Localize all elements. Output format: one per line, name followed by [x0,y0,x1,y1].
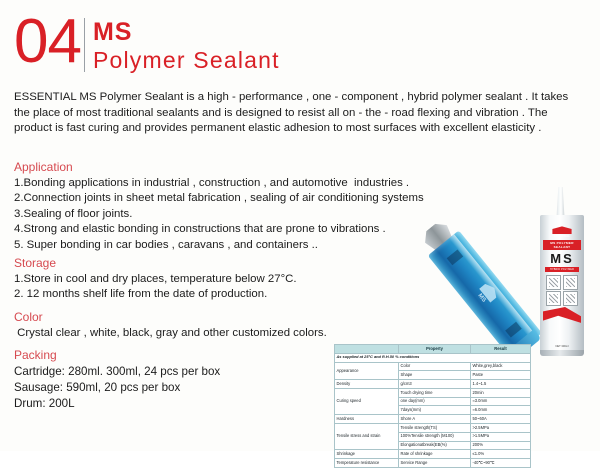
cartridge-body: ESSENTIAL MS POLYMER SEALANT MS HYBRID P… [540,215,584,353]
specifications-table: Property Result As supplied at 25°C and … [334,344,531,468]
table-row: Tensile stress and strainTensile strengt… [335,424,531,433]
spec-result: ≈6.0mm [471,406,531,415]
title-block: MS Polymer Sealant [93,14,280,74]
spec-result: ≈3.0mm [471,397,531,406]
list-item: 1.Store in cool and dry places, temperat… [14,272,444,287]
list-item: 2.Connection joints in sheet metal fabri… [14,191,514,206]
table-row: HardnessShore A50~60A [335,415,531,424]
spec-result: 20min [471,388,531,397]
spec-group-label: Appearance [335,362,399,380]
spec-result: 200% [471,441,531,450]
spec-property: Touch drying time [399,388,471,397]
spec-group-label: Temperature resistance [335,459,399,468]
spec-result: >2.5MPa [471,424,531,433]
list-item: 2. 12 months shelf life from the date of… [14,287,444,302]
house-logo-icon [547,226,577,234]
spec-property: Tensile strength(TS) [399,424,471,433]
spec-group-label: Hardness [335,415,399,424]
cartridge-band-label: MS POLYMER SEALANT [543,240,581,250]
spec-group-label: Tensile stress and strain [335,424,399,450]
table-row: AppearanceColorWhite,grey,black [335,362,531,371]
application-icon-1 [546,275,561,290]
spec-group-label: Density [335,380,399,389]
application-icon-2 [563,275,578,290]
cartridge-base [540,350,584,356]
table-row: ShrinkageRate of shrinkage≤1.0% [335,450,531,459]
spec-result: Paste [471,371,531,380]
spec-property: g/cm3 [399,380,471,389]
table-condition-row: As supplied at 25°C and R.H.50 % conditi… [335,353,531,362]
spec-group-label: Curing speed [335,388,399,414]
spec-property: one day(mm) [399,397,471,406]
table-row: Curing speedTouch drying time20min [335,388,531,397]
section-title-color: Color [14,310,444,325]
spec-result: >1.5MPa [471,432,531,441]
spec-property: Color [399,362,471,371]
section-number: 04 [14,14,81,70]
table-body: As supplied at 25°C and R.H.50 % conditi… [335,353,531,467]
sausage-label: MS [468,276,504,313]
cartridge-product-code: MS [540,252,584,266]
spec-result: 1.4~1.5 [471,380,531,389]
table-header-row: Property Result [335,345,531,354]
application-icon-3 [546,291,561,306]
usage-icon-grid [546,275,578,307]
qr-code-icon [563,291,578,306]
cartridge-nozzle [555,187,566,217]
page-title-secondary: Polymer Sealant [93,47,280,74]
header-divider [84,18,85,72]
spec-result: White,grey,black [471,362,531,371]
page-header: 04 MS Polymer Sealant [14,14,280,74]
table-header-result: Result [471,345,531,354]
list-item: 1.Bonding applications in industrial , c… [14,176,514,191]
table-header-property: Property [399,345,471,354]
spec-result: -40℃~90℃ [471,459,531,468]
cartridge-net-volume: NET 300ml [540,345,584,348]
brand-swoosh-graphic [543,307,581,329]
cartridge-subband-label: HYBRID POLYMER [545,267,579,272]
spec-result: ≤1.0% [471,450,531,459]
color-list: Crystal clear , white, black, gray and o… [14,326,444,341]
spec-property: Shore A [399,415,471,424]
page-title-primary: MS [93,20,280,45]
intro-paragraph: ESSENTIAL MS Polymer Sealant is a high -… [14,90,584,137]
spec-group-label: Shrinkage [335,450,399,459]
spec-property: Shape [399,371,471,380]
condition-note: As supplied at 25°C and R.H.50 % conditi… [335,353,531,362]
section-color: Color Crystal clear , white, black, gray… [14,310,444,341]
section-title-application: Application [14,160,514,175]
table-header-blank [335,345,399,354]
spec-property: Rate of shrinkage [399,450,471,459]
spec-property: 100%Tensile strength (M100) [399,432,471,441]
table-row: Densityg/cm31.4~1.5 [335,380,531,389]
datasheet-page: 04 MS Polymer Sealant ESSENTIAL MS Polym… [0,0,600,451]
spec-property: Service Range [399,459,471,468]
cartridge-image: ESSENTIAL MS POLYMER SEALANT MS HYBRID P… [536,187,588,357]
brand-name: ESSENTIAL [547,235,577,238]
brand-logo: ESSENTIAL [547,226,577,238]
table-row: Temperature resistanceService Range-40℃~… [335,459,531,468]
spec-result: 50~60A [471,415,531,424]
spec-property: 7days(mm) [399,406,471,415]
spec-property: Elongationatbreak(EB(%) [399,441,471,450]
